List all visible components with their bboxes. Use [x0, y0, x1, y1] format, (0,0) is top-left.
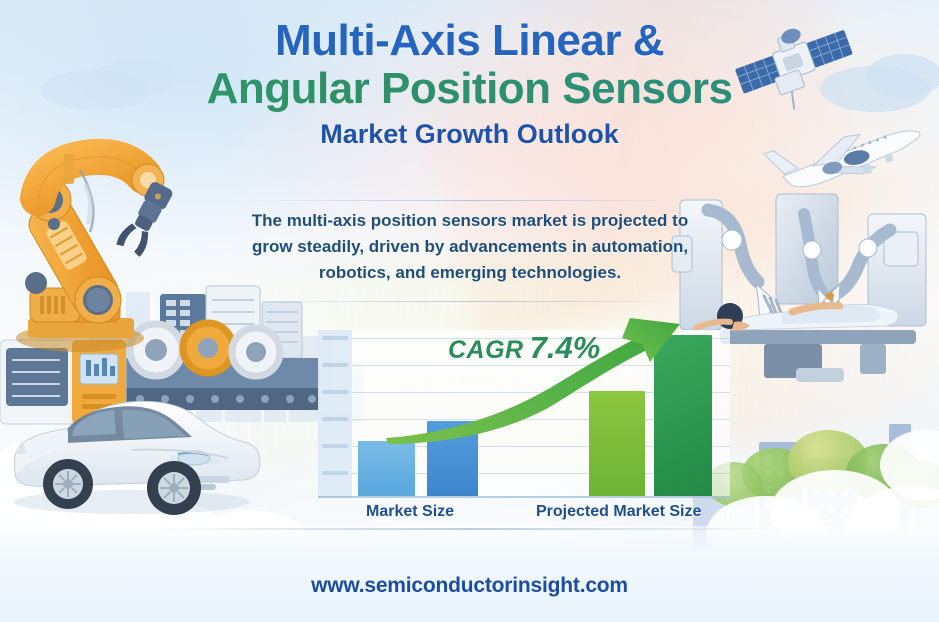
chart-bar-market-size-1 [358, 441, 415, 496]
cagr-label: CAGR [448, 336, 524, 364]
chart-label-projected-market-size: Projected Market Size [536, 503, 701, 521]
footer-divider [150, 528, 789, 530]
infographic-poster: Multi-Axis Linear & Angular Position Sen… [0, 0, 939, 622]
industrial-robot-arm-illustration [8, 140, 208, 350]
body-description: The multi-axis position sensors market i… [236, 208, 704, 285]
divider-bottom [252, 301, 688, 302]
page-title-line-1: Multi-Axis Linear & [0, 18, 939, 64]
cagr-value: 7.4% [530, 330, 601, 365]
divider-top [252, 200, 688, 201]
cagr-annotation: CAGR7.4% [448, 330, 600, 366]
page-subtitle: Market Growth Outlook [0, 119, 939, 150]
page-title-line-2: Angular Position Sensors [0, 64, 939, 113]
footer-url[interactable]: www.semiconductorinsight.com [0, 574, 939, 598]
white-sedan-car-illustration [2, 384, 254, 524]
chart-y-axis [318, 330, 352, 498]
header-block: Multi-Axis Linear & Angular Position Sen… [0, 18, 939, 150]
chart-baseline [318, 496, 730, 498]
chart-label-market-size: Market Size [366, 503, 454, 521]
